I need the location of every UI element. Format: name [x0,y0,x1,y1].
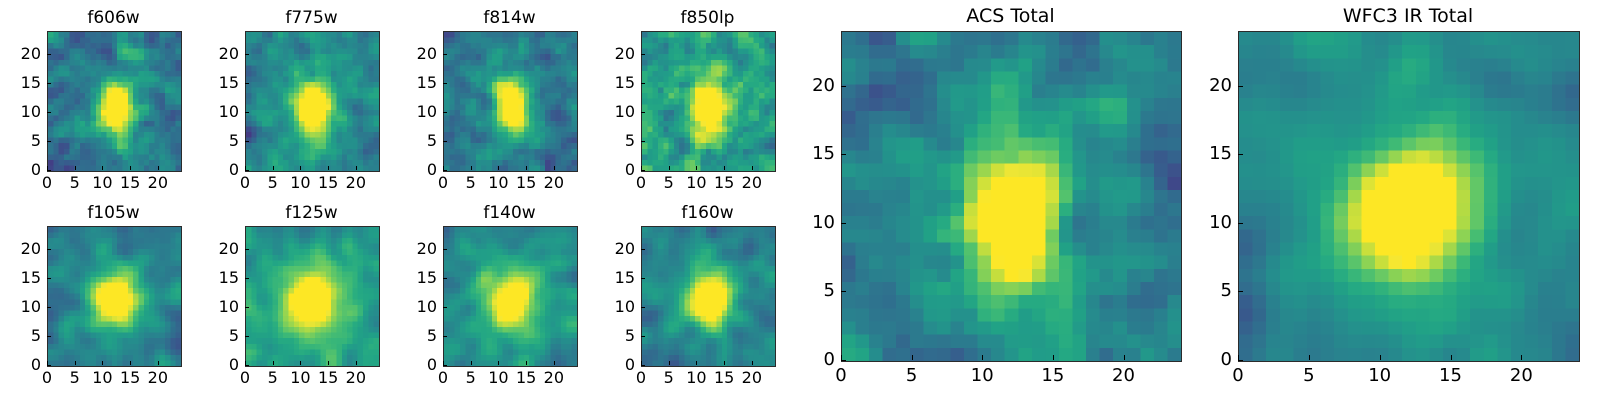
x-tick-label: 20 [138,175,178,191]
x-tick [724,361,725,365]
y-tick-label: 20 [1190,77,1232,95]
y-tick [841,360,846,361]
x-tick [300,166,301,170]
x-tick [130,166,131,170]
y-tick-label: 20 [395,46,437,62]
y-tick [245,54,249,55]
y-tick-label: 0 [197,162,239,178]
y-tick-label: 10 [1190,214,1232,232]
heatmap-image [245,31,380,172]
x-tick [696,166,697,170]
y-tick [245,249,249,250]
heatmap-image [841,31,1182,362]
x-tick [75,361,76,365]
y-tick [641,307,645,308]
y-tick [47,170,51,171]
y-tick-label: 15 [593,75,635,91]
x-tick-label: 20 [138,370,178,386]
y-tick-label: 15 [197,75,239,91]
x-tick [273,166,274,170]
y-tick-label: 0 [197,357,239,373]
y-tick-label: 0 [593,162,635,178]
y-tick-label: 20 [197,46,239,62]
x-tick [912,355,913,360]
y-tick-label: 5 [0,328,41,344]
heatmap-image [47,226,182,367]
y-tick [47,336,51,337]
y-tick [47,278,51,279]
y-tick [1238,154,1243,155]
panel-title: f140w [443,205,576,222]
y-tick [47,141,51,142]
y-tick [1238,223,1243,224]
x-tick [554,361,555,365]
y-tick [47,83,51,84]
y-tick [47,307,51,308]
y-tick [641,54,645,55]
y-tick-label: 15 [793,145,835,163]
y-tick [641,112,645,113]
y-tick [245,365,249,366]
y-tick-label: 5 [593,328,635,344]
y-tick-label: 10 [395,104,437,120]
y-tick [443,112,447,113]
figure-canvas: f606w0510152005101520f775w05101520051015… [0,0,1600,400]
x-tick [328,361,329,365]
x-tick [1309,355,1310,360]
y-tick [641,278,645,279]
y-tick [841,223,846,224]
y-tick-label: 20 [395,241,437,257]
heatmap-image [443,226,578,367]
x-tick [328,166,329,170]
y-tick-label: 20 [593,46,635,62]
y-tick [841,154,846,155]
y-tick-label: 5 [0,133,41,149]
x-tick [471,166,472,170]
y-tick [1238,86,1243,87]
heatmap-image [641,31,776,172]
y-tick-label: 0 [1190,351,1232,369]
x-tick-label: 20 [732,175,772,191]
y-tick-label: 15 [0,75,41,91]
x-tick [1053,355,1054,360]
y-tick-label: 20 [0,241,41,257]
x-tick [554,166,555,170]
panel-title: ACS Total [841,7,1180,26]
y-tick-label: 5 [793,282,835,300]
y-tick [443,249,447,250]
y-tick [245,141,249,142]
x-tick-label: 20 [336,370,376,386]
x-tick-label: 20 [732,370,772,386]
y-tick [47,54,51,55]
y-tick-label: 0 [395,357,437,373]
y-tick-label: 5 [395,328,437,344]
y-tick [443,278,447,279]
x-tick-label: 5 [1289,367,1329,385]
heatmap-image [443,31,578,172]
x-tick [130,361,131,365]
y-tick-label: 15 [395,75,437,91]
x-tick [75,166,76,170]
x-tick-label: 20 [336,175,376,191]
x-tick [102,361,103,365]
y-tick-label: 15 [1190,145,1232,163]
x-tick-label: 15 [1033,367,1073,385]
y-tick-label: 15 [0,270,41,286]
x-tick [102,166,103,170]
heatmap-image [47,31,182,172]
panel-title: f160w [641,205,774,222]
x-tick [526,166,527,170]
y-tick [443,54,447,55]
y-tick [245,278,249,279]
panel-title: f850lp [641,10,774,27]
heatmap-image [1238,31,1580,362]
y-tick [443,307,447,308]
x-tick [356,166,357,170]
y-tick-label: 20 [0,46,41,62]
y-tick [1238,360,1243,361]
x-tick-label: 5 [892,367,932,385]
y-tick [443,83,447,84]
x-tick [471,361,472,365]
y-tick-label: 0 [0,357,41,373]
y-tick [641,336,645,337]
y-tick [245,170,249,171]
y-tick [641,170,645,171]
y-tick [245,83,249,84]
y-tick [245,336,249,337]
x-tick [498,361,499,365]
x-tick-label: 15 [1431,367,1471,385]
x-tick-label: 10 [1360,367,1400,385]
panel-title: f125w [245,205,378,222]
panel-title: f606w [47,10,180,27]
x-tick [300,361,301,365]
y-tick-label: 10 [593,104,635,120]
x-tick-label: 20 [1104,367,1144,385]
y-tick-label: 0 [793,351,835,369]
y-tick [1238,291,1243,292]
y-tick-label: 0 [593,357,635,373]
y-tick [443,336,447,337]
y-tick [641,365,645,366]
x-tick [1380,355,1381,360]
y-tick-label: 10 [395,299,437,315]
y-tick [443,170,447,171]
x-tick [669,361,670,365]
y-tick-label: 20 [593,241,635,257]
x-tick [158,361,159,365]
y-tick-label: 15 [197,270,239,286]
panel-title: f775w [245,10,378,27]
y-tick-label: 10 [593,299,635,315]
y-tick-label: 5 [197,133,239,149]
y-tick-label: 0 [395,162,437,178]
heatmap-image [641,226,776,367]
x-tick [1124,355,1125,360]
y-tick [245,112,249,113]
x-tick-label: 20 [534,175,574,191]
x-tick-label: 10 [962,367,1002,385]
y-tick [245,307,249,308]
y-tick [443,141,447,142]
y-tick-label: 10 [197,104,239,120]
x-tick [1521,355,1522,360]
y-tick-label: 20 [793,77,835,95]
panel-title: WFC3 IR Total [1238,7,1578,26]
y-tick-label: 10 [0,104,41,120]
y-tick-label: 10 [0,299,41,315]
x-tick [752,166,753,170]
y-tick [641,83,645,84]
x-tick [696,361,697,365]
x-tick [752,361,753,365]
x-tick-label: 20 [534,370,574,386]
x-tick [724,166,725,170]
x-tick [1451,355,1452,360]
y-tick [47,365,51,366]
y-tick [841,291,846,292]
y-tick-label: 5 [1190,282,1232,300]
y-tick [47,112,51,113]
y-tick-label: 5 [395,133,437,149]
y-tick [47,249,51,250]
y-tick-label: 5 [593,133,635,149]
x-tick-label: 20 [1501,367,1541,385]
y-tick-label: 15 [593,270,635,286]
y-tick-label: 20 [197,241,239,257]
x-tick [273,361,274,365]
y-tick-label: 10 [197,299,239,315]
y-tick-label: 5 [197,328,239,344]
panel-title: f105w [47,205,180,222]
y-tick [641,141,645,142]
y-tick-label: 10 [793,214,835,232]
x-tick [982,355,983,360]
x-tick [158,166,159,170]
y-tick [641,249,645,250]
y-tick [443,365,447,366]
x-tick [526,361,527,365]
x-tick [498,166,499,170]
x-tick [356,361,357,365]
heatmap-image [245,226,380,367]
y-tick-label: 0 [0,162,41,178]
panel-title: f814w [443,10,576,27]
y-tick-label: 15 [395,270,437,286]
x-tick [669,166,670,170]
y-tick [841,86,846,87]
